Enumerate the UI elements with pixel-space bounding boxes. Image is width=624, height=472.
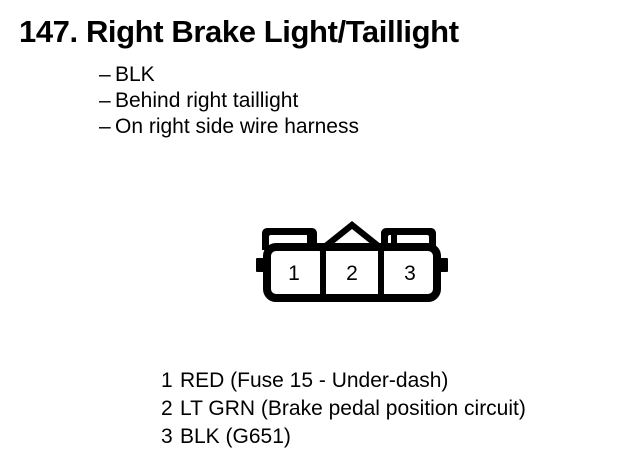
dash-icon: – xyxy=(99,114,115,140)
legend-row: 2 LT GRN (Brake pedal position circuit) xyxy=(161,395,601,423)
legend-row: 3 BLK (G651) xyxy=(161,423,601,451)
list-item-label: BLK xyxy=(115,62,155,88)
list-item: – On right side wire harness xyxy=(99,114,559,140)
page-title: 147. Right Brake Light/Taillight xyxy=(19,14,459,50)
pin-legend: 1 RED (Fuse 15 - Under-dash) 2 LT GRN (B… xyxy=(161,367,601,451)
legend-pin-description: RED (Fuse 15 - Under-dash) xyxy=(180,367,448,395)
legend-pin-description: BLK (G651) xyxy=(180,423,291,451)
dash-icon: – xyxy=(99,88,115,114)
cavity-label-2: 2 xyxy=(346,262,358,285)
connector-left-lock-notch xyxy=(307,231,313,243)
legend-pin-number: 3 xyxy=(161,423,180,451)
cavity-label-1: 1 xyxy=(288,262,300,285)
connector-divider-1-2 xyxy=(320,249,326,296)
legend-pin-number: 1 xyxy=(161,367,180,395)
legend-pin-number: 2 xyxy=(161,395,180,423)
legend-row: 1 RED (Fuse 15 - Under-dash) xyxy=(161,367,601,395)
connector-right-lock-notch xyxy=(391,231,397,243)
list-item: – Behind right taillight xyxy=(99,88,559,114)
connector-divider-2-3 xyxy=(378,249,384,296)
list-item-label: On right side wire harness xyxy=(115,114,359,140)
legend-pin-description: LT GRN (Brake pedal position circuit) xyxy=(180,395,526,423)
connector-details-list: – BLK – Behind right taillight – On righ… xyxy=(99,62,559,140)
connector-diagram: 1 2 3 xyxy=(252,212,452,306)
list-item-label: Behind right taillight xyxy=(115,88,298,114)
dash-icon: – xyxy=(99,62,115,88)
list-item: – BLK xyxy=(99,62,559,88)
diagram-page: 147. Right Brake Light/Taillight – BLK –… xyxy=(0,0,624,472)
cavity-label-3: 3 xyxy=(404,262,416,285)
